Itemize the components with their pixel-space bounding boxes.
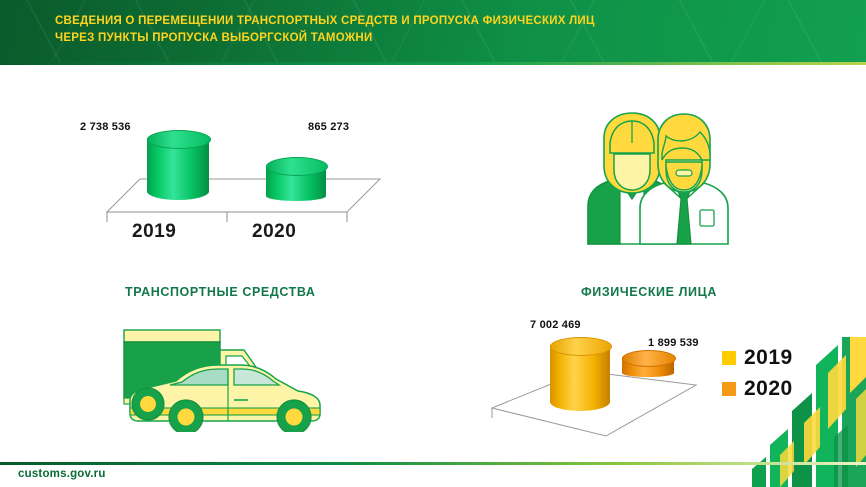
persons-bar-2019: [550, 345, 610, 411]
persons-bar-2020: [622, 357, 674, 377]
vehicles-bar-2020-cap: [266, 157, 328, 176]
legend-swatch-2020-icon: [722, 382, 736, 396]
page-header: СВЕДЕНИЯ О ПЕРЕМЕЩЕНИИ ТРАНСПОРТНЫХ СРЕД…: [0, 0, 866, 62]
vehicles-chart-axis: [80, 204, 400, 226]
vehicles-value-label-2020: 865 273: [308, 121, 349, 133]
persons-chart: 7 002 469 1 899 539: [488, 315, 718, 440]
footer-rule: [0, 462, 866, 465]
people-icon: [566, 110, 746, 250]
footer-url[interactable]: customs.gov.ru: [18, 468, 106, 480]
vehicles-bar-2020: [266, 165, 326, 201]
vehicles-bar-2019-cap: [147, 130, 211, 149]
vehicles-bar-2019: [147, 138, 209, 200]
header-underline: [0, 62, 866, 65]
corner-decoration: [746, 337, 866, 487]
infographic-slide: СВЕДЕНИЯ О ПЕРЕМЕЩЕНИИ ТРАНСПОРТНЫХ СРЕД…: [0, 0, 866, 487]
legend-swatch-2019-icon: [722, 351, 736, 365]
vehicles-category-label-2020: 2020: [252, 221, 296, 243]
persons-value-label-2020: 1 899 539: [648, 337, 699, 349]
vehicles-value-label-2019: 2 738 536: [80, 121, 131, 133]
persons-value-label-2019: 7 002 469: [530, 319, 581, 331]
section-label-persons: ФИЗИЧЕСКИЕ ЛИЦА: [581, 285, 717, 299]
persons-bar-2020-cap: [622, 350, 676, 367]
vehicles-category-label-2019: 2019: [132, 221, 176, 243]
persons-bar-2019-cap: [550, 337, 612, 356]
page-title: СВЕДЕНИЯ О ПЕРЕМЕЩЕНИИ ТРАНСПОРТНЫХ СРЕД…: [55, 13, 715, 46]
truck-car-icon: [108, 322, 338, 432]
section-label-vehicles: ТРАНСПОРТНЫЕ СРЕДСТВА: [125, 285, 316, 299]
vehicles-chart: 2 738 536 865 273 2019 2020: [80, 108, 400, 253]
